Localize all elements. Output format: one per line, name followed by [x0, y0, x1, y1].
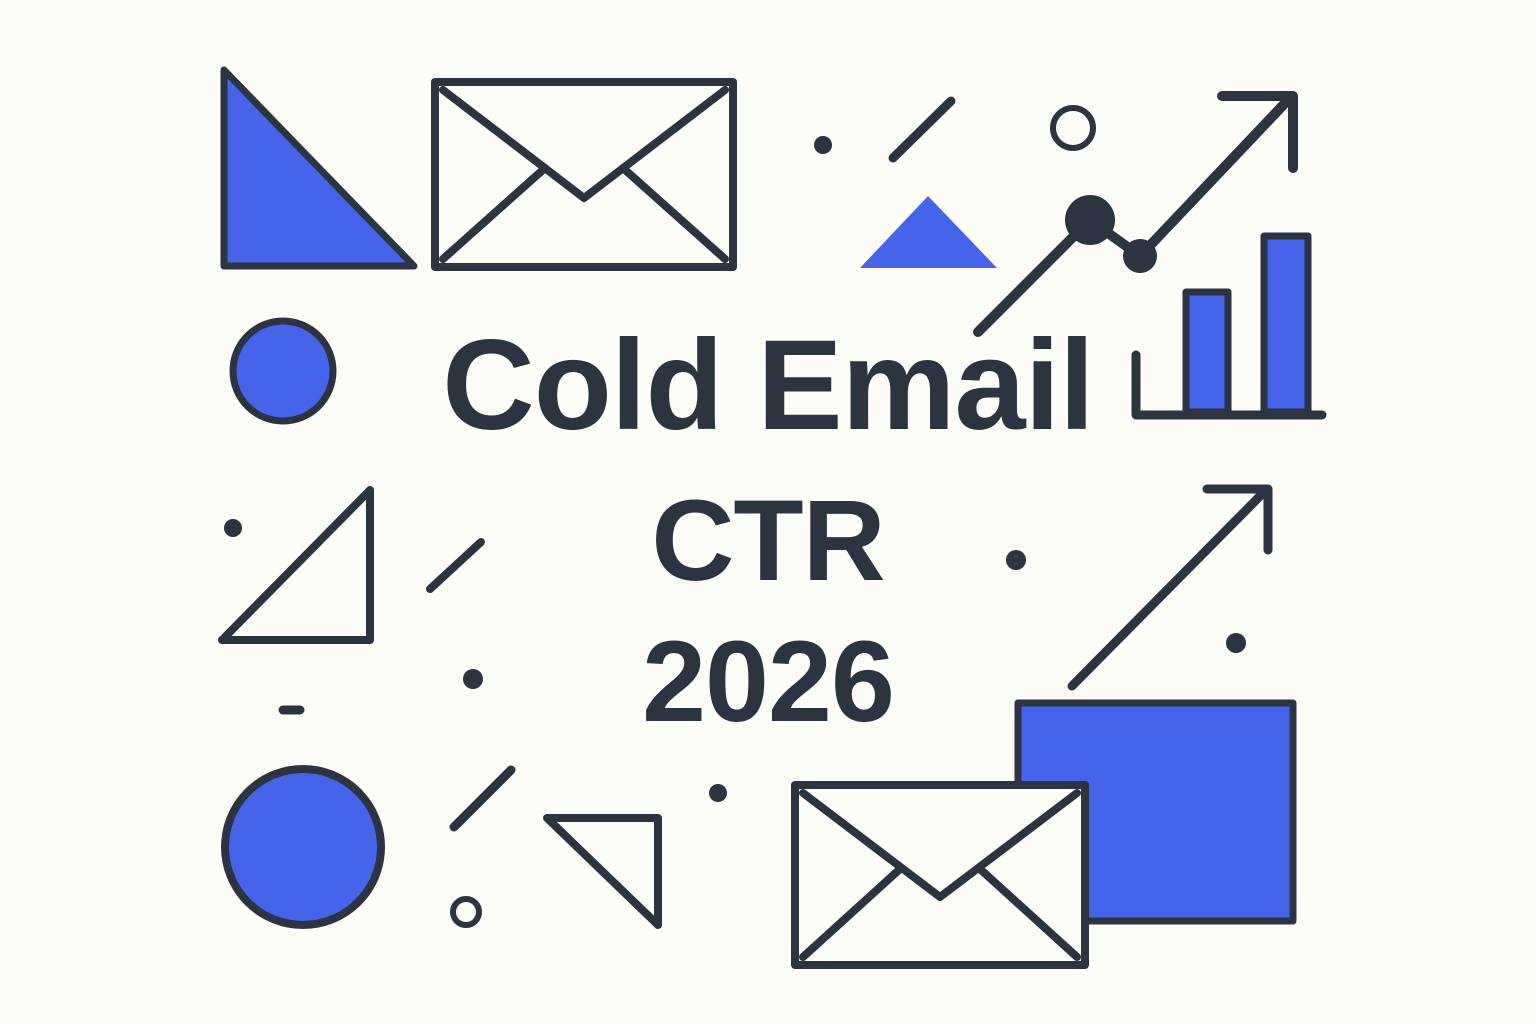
dot-bottom-center [709, 784, 727, 802]
envelope-outline-icon-bottom [795, 785, 1085, 965]
bar-1 [1186, 292, 1228, 412]
dot-right-upper [1006, 550, 1026, 570]
dot-mid-center [463, 669, 483, 689]
poster-canvas: Cold Email CTR 2026 [0, 0, 1536, 1024]
dot-mid-left [224, 519, 242, 537]
bar-2 [1264, 236, 1308, 412]
dot-top [814, 136, 832, 154]
blue-filled-circle-bottom [225, 769, 381, 925]
dot-right-lower [1226, 633, 1246, 653]
blue-filled-circle-mid [233, 321, 333, 421]
decorative-background [0, 0, 1536, 1024]
